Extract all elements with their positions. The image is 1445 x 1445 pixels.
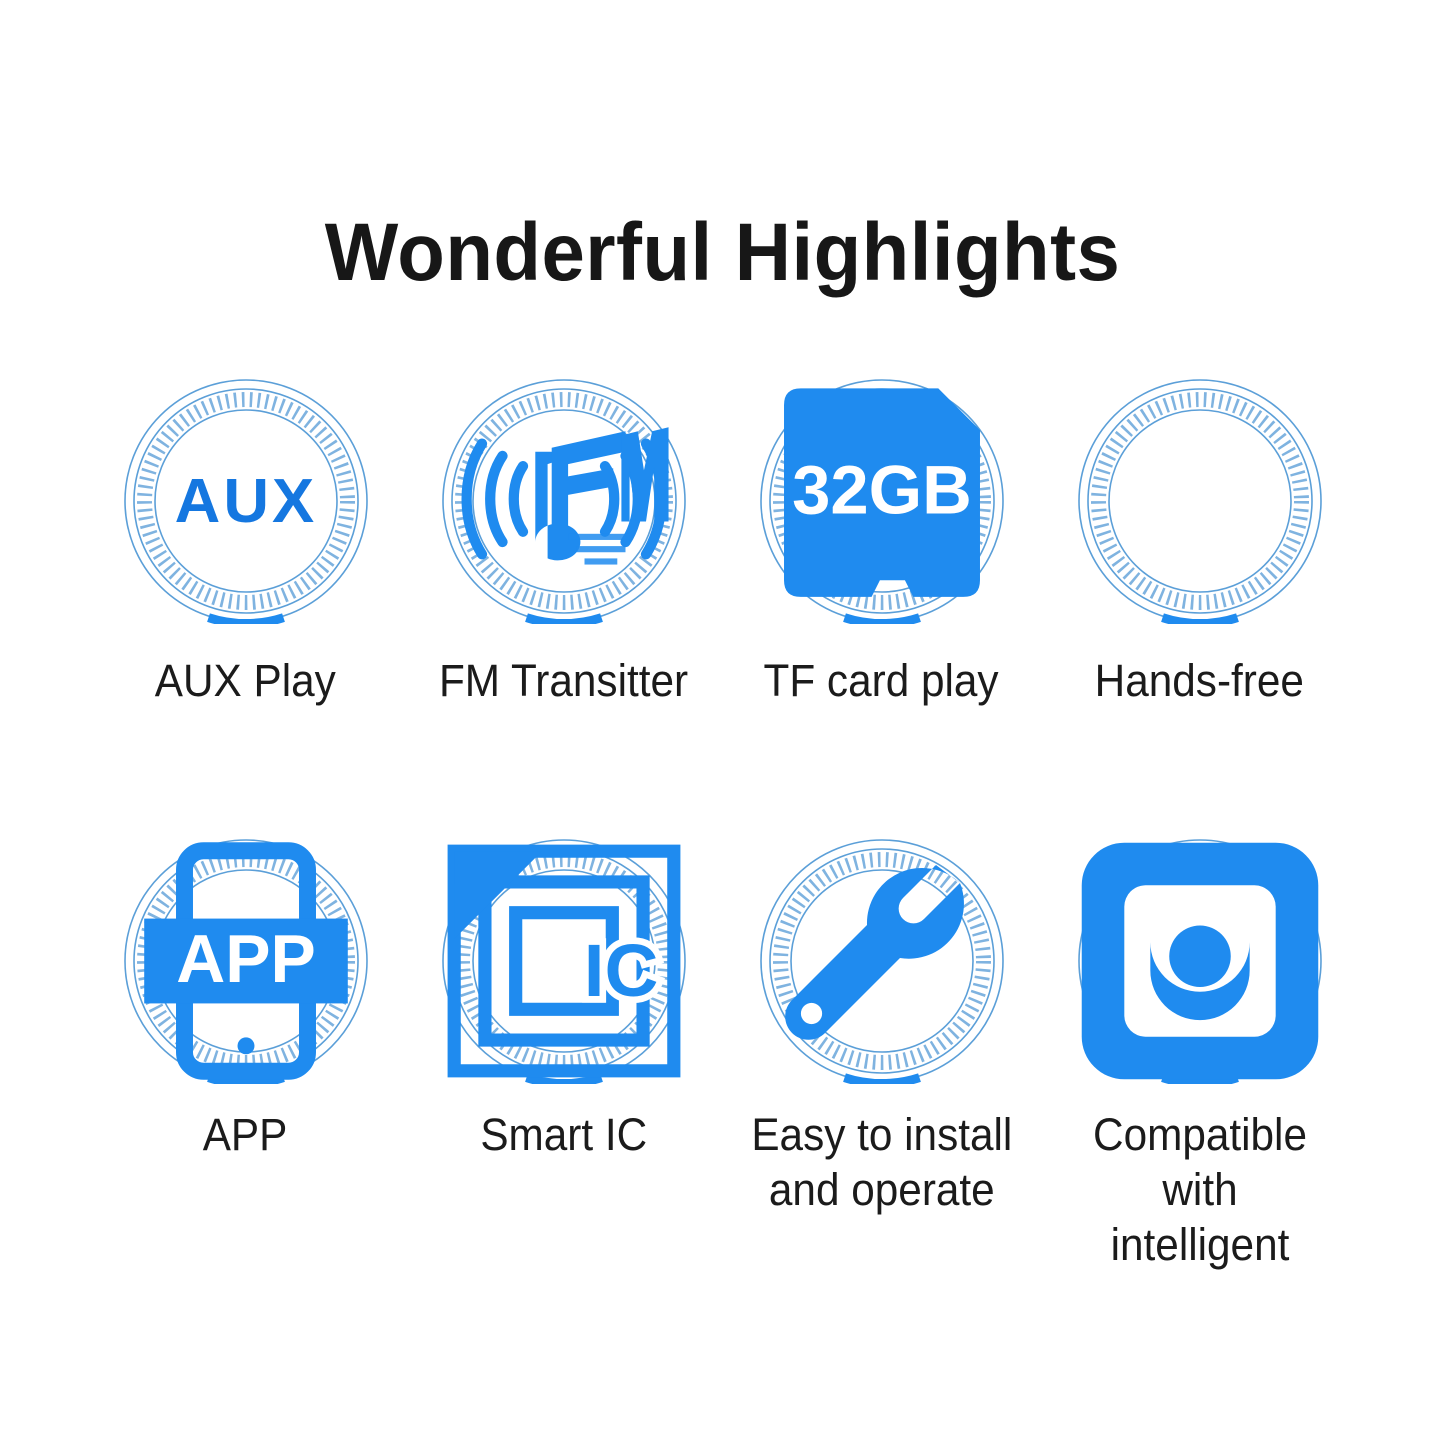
microsd-capacity-label: 32GB	[792, 452, 972, 529]
badge-ring-smart-ic: IC	[441, 838, 687, 1084]
feature-label-smart-ic: Smart IC	[480, 1108, 647, 1163]
badge-ring-app: APP	[123, 838, 369, 1084]
icon-wrench	[759, 838, 1005, 1084]
icon-ic-chip: IC	[441, 838, 687, 1084]
smart-assistant-glyph	[1077, 838, 1323, 1084]
feature-fm-transmitter[interactable]: FM Transitter	[405, 378, 723, 709]
page-title: Wonderful Highlights	[36, 212, 1409, 294]
icon-fm-radio	[441, 378, 687, 624]
badge-ring-tf: 32GB	[759, 378, 1005, 624]
feature-label-hands-free: Hands-free	[1095, 654, 1304, 709]
feature-row-2: APP APP	[0, 838, 1445, 1273]
ic-chip-glyph: IC	[441, 838, 687, 1084]
badge-ring-aux: AUX	[123, 378, 369, 624]
icon-empty	[1077, 378, 1323, 624]
feature-tf-card-play[interactable]: 32GB TF card play	[723, 378, 1041, 709]
feature-aux-play[interactable]: AUX AUX Play	[87, 378, 405, 709]
wrench-glyph	[759, 838, 1005, 1084]
feature-highlights-page: Wonderful Highlights AUX AUX Play	[0, 0, 1445, 1445]
ic-label: IC	[583, 928, 658, 1012]
feature-smart-ic[interactable]: IC Smart IC	[405, 838, 723, 1273]
badge-ring-fm	[441, 378, 687, 624]
microsd-card-glyph: 32GB	[759, 378, 1005, 624]
icon-microsd-card: 32GB	[759, 378, 1005, 624]
feature-label-compatible-intelligent: Compatible with intelligent	[1050, 1108, 1349, 1273]
badge-ring-compatible	[1077, 838, 1323, 1084]
feature-compatible-intelligent[interactable]: Compatible with intelligent	[1041, 838, 1359, 1273]
app-label: APP	[176, 922, 316, 997]
feature-label-fm-transmitter: FM Transitter	[439, 654, 688, 709]
feature-hands-free[interactable]: Hands-free	[1041, 378, 1359, 709]
feature-app[interactable]: APP APP	[87, 838, 405, 1273]
feature-easy-install[interactable]: Easy to install and operate	[723, 838, 1041, 1273]
aux-label: AUX	[174, 466, 317, 537]
icon-smartphone-app: APP	[123, 838, 369, 1084]
fm-radio-glyph	[441, 378, 687, 624]
feature-label-tf-card-play: TF card play	[764, 654, 999, 709]
feature-label-easy-install: Easy to install and operate	[751, 1108, 1012, 1218]
badge-ring-hands-free	[1077, 378, 1323, 624]
feature-label-app: APP	[203, 1108, 288, 1163]
icon-smart-assistant	[1077, 838, 1323, 1084]
badge-ring-easy-install	[759, 838, 1005, 1084]
feature-label-aux-play: AUX Play	[155, 654, 336, 709]
icon-aux: AUX	[123, 378, 369, 624]
feature-row-1: AUX AUX Play	[0, 378, 1445, 709]
smartphone-app-glyph: APP	[123, 838, 369, 1084]
